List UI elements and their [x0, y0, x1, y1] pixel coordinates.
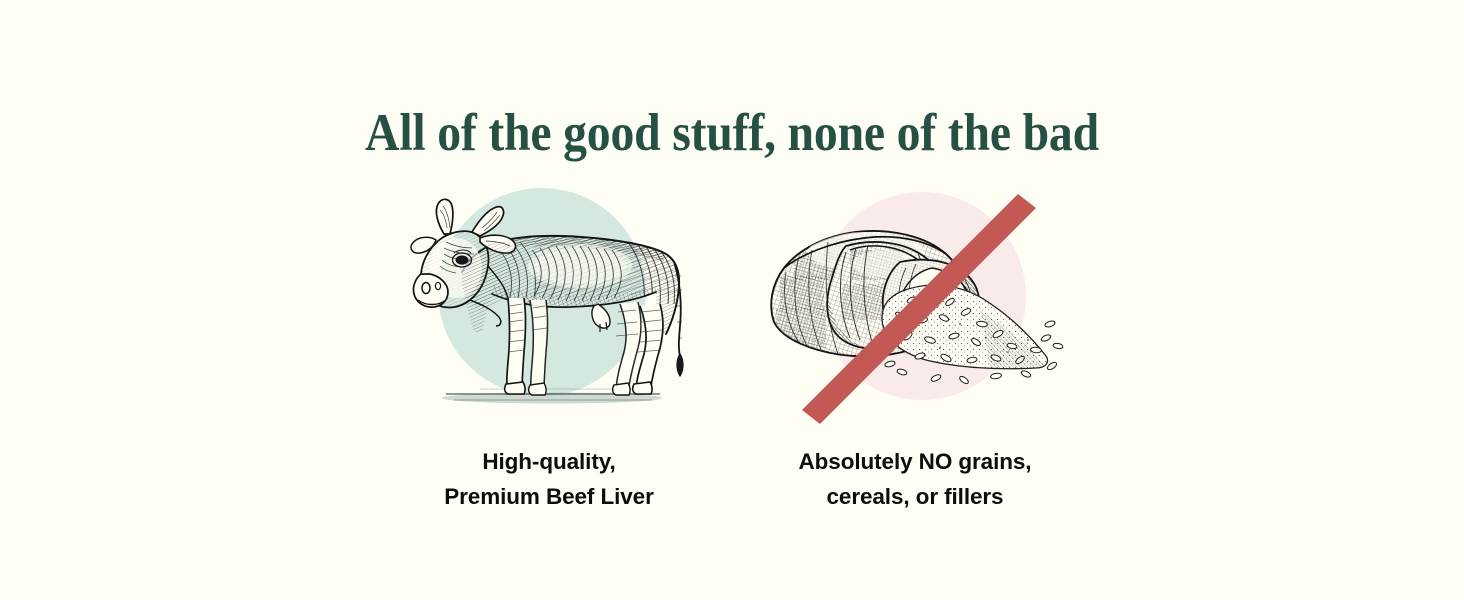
caption-bad: Absolutely NO grains, cereals, or filler… — [799, 444, 1032, 514]
caption-line-1: High-quality, — [444, 444, 654, 479]
benefit-card-good: High-quality, Premium Beef Liver — [366, 180, 732, 514]
caption-good: High-quality, Premium Beef Liver — [444, 444, 654, 514]
caption-line-1: Absolutely NO grains, — [799, 444, 1032, 479]
benefit-cards: High-quality, Premium Beef Liver — [0, 180, 1464, 514]
promo-banner: All of the good stuff, none of the bad — [0, 0, 1464, 600]
benefit-card-bad: Absolutely NO grains, cereals, or filler… — [732, 180, 1098, 514]
grain-sack-engraving-svg — [750, 180, 1080, 430]
cow-engraving-svg — [384, 180, 714, 430]
grain-sack-illustration — [750, 180, 1080, 430]
cow-illustration — [384, 180, 714, 430]
caption-line-2: Premium Beef Liver — [444, 479, 654, 514]
caption-line-2: cereals, or fillers — [799, 479, 1032, 514]
page-title: All of the good stuff, none of the bad — [73, 102, 1391, 164]
